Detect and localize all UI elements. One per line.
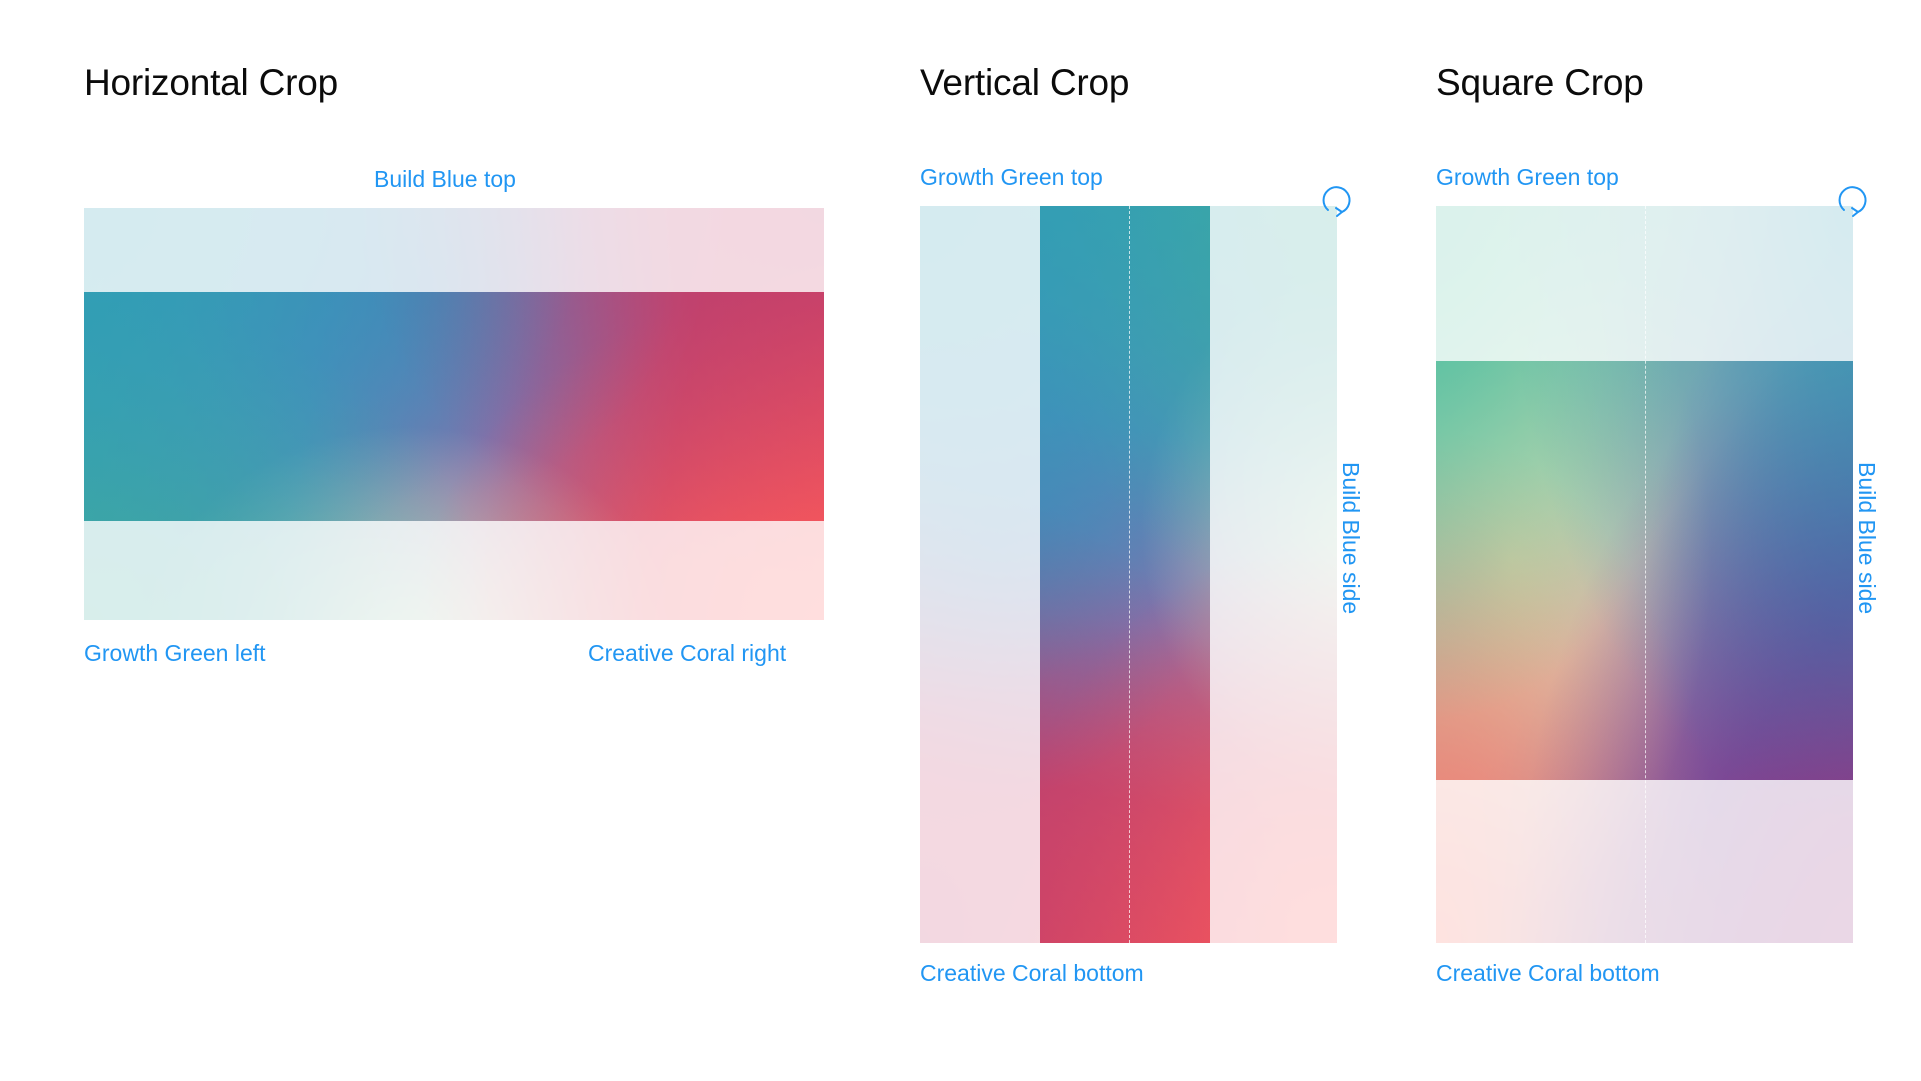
artwork-vertical-crop[interactable] [920, 206, 1337, 943]
label-horizontal-top: Build Blue top [374, 168, 516, 191]
rotate-icon[interactable] [1316, 182, 1360, 226]
panel-square-crop: Square Crop [1436, 64, 1644, 101]
annotation-creative-coral-right: Creative Coral right [588, 642, 786, 665]
annotation-creative-coral-bottom-vertical: Creative Coral bottom [920, 962, 1144, 985]
gradient-mesh-horizontal [84, 208, 824, 620]
panel-title-vertical: Vertical Crop [920, 64, 1129, 101]
annotation-growth-green-top-square: Growth Green top [1436, 166, 1619, 189]
label-square-bottom: Creative Coral bottom [1436, 962, 1660, 985]
rotate-icon[interactable] [1832, 182, 1876, 226]
label-horizontal-bottom-right: Creative Coral right [588, 642, 786, 665]
annotation-growth-green-top-vertical: Growth Green top [920, 166, 1103, 189]
label-vertical-bottom: Creative Coral bottom [920, 962, 1144, 985]
panel-vertical-crop: Vertical Crop [920, 64, 1129, 101]
panel-horizontal-crop: Horizontal Crop [84, 64, 338, 101]
annotation-growth-green-left: Growth Green left [84, 642, 266, 665]
annotation-creative-coral-bottom-square: Creative Coral bottom [1436, 962, 1660, 985]
gradient-mesh-vertical [920, 206, 1337, 943]
gradient-mesh-square [1436, 206, 1853, 943]
artwork-square-crop[interactable] [1436, 206, 1853, 943]
label-square-top: Growth Green top [1436, 166, 1619, 189]
canvas-root: Horizontal Crop Build Blue top Growth Gr… [0, 0, 1921, 1081]
label-square-side: Build Blue side [1878, 462, 1921, 485]
artwork-horizontal-crop[interactable] [84, 208, 824, 620]
panel-title-square: Square Crop [1436, 64, 1644, 101]
label-vertical-top: Growth Green top [920, 166, 1103, 189]
annotation-build-blue-side-square: Build Blue side [1855, 462, 1878, 614]
annotation-build-blue-top: Build Blue top [374, 168, 516, 191]
label-horizontal-bottom-left: Growth Green left [84, 642, 266, 665]
panel-title-horizontal: Horizontal Crop [84, 64, 338, 101]
annotation-build-blue-side-vertical: Build Blue side [1339, 462, 1362, 614]
